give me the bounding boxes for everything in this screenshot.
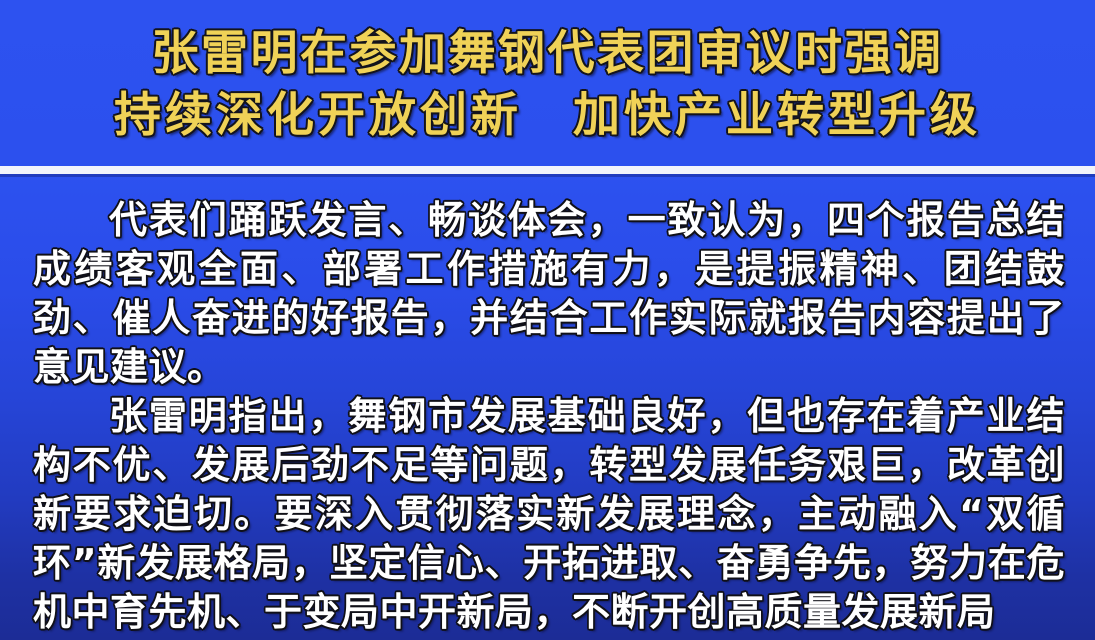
slide-canvas: 张雷明在参加舞钢代表团审议时强调 持续深化开放创新 加快产业转型升级 代表们踊跃… — [0, 0, 1095, 640]
title-divider-rule — [0, 166, 1095, 174]
title-block: 张雷明在参加舞钢代表团审议时强调 持续深化开放创新 加快产业转型升级 — [0, 0, 1095, 166]
title-line-1: 张雷明在参加舞钢代表团审议时强调 — [152, 23, 944, 85]
title-line-2: 持续深化开放创新 加快产业转型升级 — [114, 85, 981, 147]
body-paragraph-1: 代表们踊跃发言、畅谈体会，一致认为，四个报告总结成绩客观全面、部署工作措施有力，… — [33, 196, 1065, 392]
body-text-block: 代表们踊跃发言、畅谈体会，一致认为，四个报告总结成绩客观全面、部署工作措施有力，… — [0, 182, 1095, 640]
title-divider-shadow — [0, 174, 1095, 177]
body-paragraph-2: 张雷明指出，舞钢市发展基础良好，但也存在着产业结构不优、发展后劲不足等问题，转型… — [33, 392, 1065, 637]
